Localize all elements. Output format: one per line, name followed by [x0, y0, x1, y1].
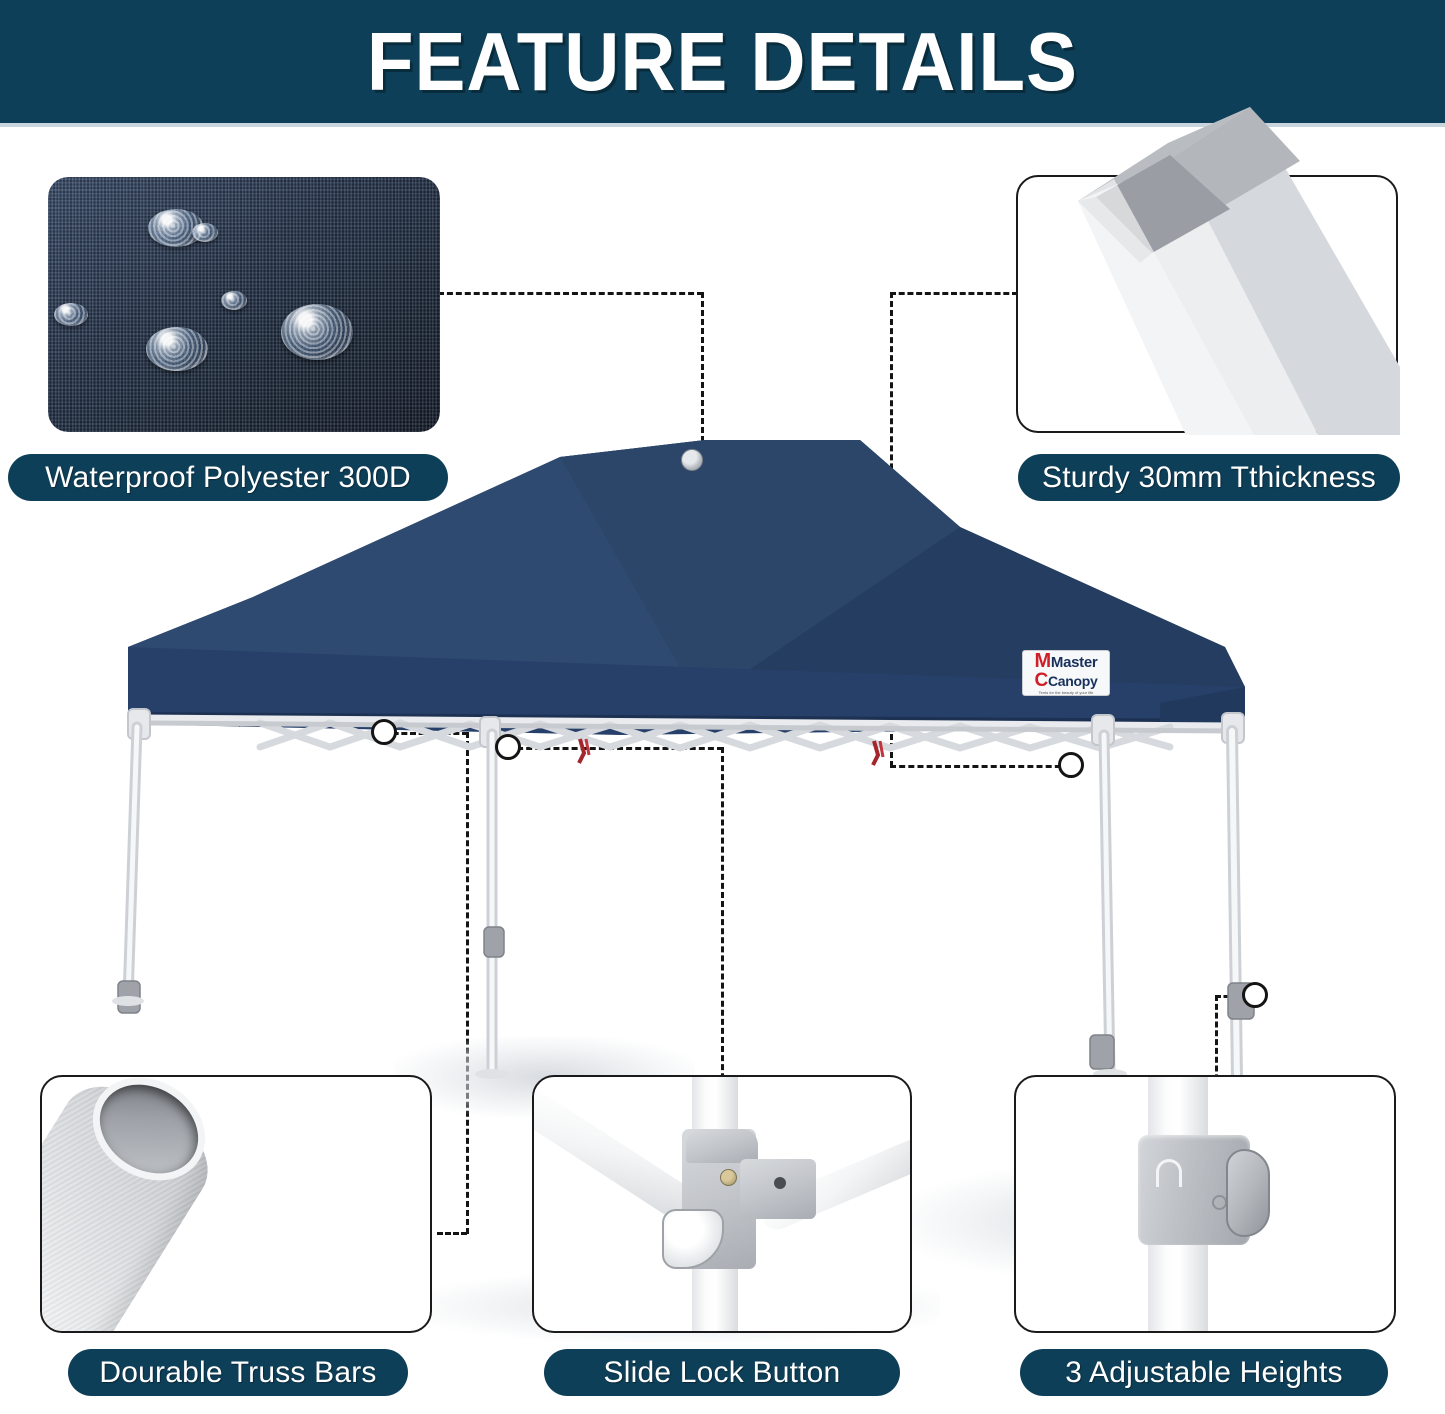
label-adjustable-heights-text: 3 Adjustable Heights [1065, 1356, 1343, 1390]
label-slide-lock: Slide Lock Button [544, 1349, 900, 1396]
brand-logo-tagline: Tents for the beauty of your life [1039, 691, 1094, 695]
height-adjuster-lever[interactable] [1226, 1149, 1270, 1237]
vent-grommet-icon [681, 449, 703, 471]
water-droplet [146, 327, 208, 371]
brand-logo-line-2: CCanopy [1035, 671, 1098, 691]
inset-adjustable-heights [1014, 1075, 1396, 1333]
inset-truss-bars [40, 1075, 432, 1333]
height-adjuster-arch-mark [1156, 1159, 1182, 1187]
inset-waterproof-fabric [48, 177, 440, 432]
slide-lock-screw [720, 1169, 737, 1186]
page-title: FEATURE DETAILS [367, 14, 1078, 110]
water-droplet [221, 291, 247, 310]
label-waterproof-fabric-text: Waterproof Polyester 300D [45, 461, 411, 495]
callout-anchor-truss-center [495, 734, 521, 760]
callout-anchor-leg-adjuster [1242, 982, 1268, 1008]
feature-diagram-stage: MMaster CCanopy Tents for the beauty of … [0, 127, 1445, 1414]
slide-lock-arm-socket [740, 1159, 816, 1219]
water-droplet [281, 304, 353, 360]
callout-anchor-frame-right [1058, 752, 1084, 778]
label-slide-lock-text: Slide Lock Button [604, 1356, 841, 1390]
brand-logo-patch: MMaster CCanopy Tents for the beauty of … [1022, 650, 1110, 696]
truss-lattice [140, 719, 1235, 748]
label-adjustable-heights: 3 Adjustable Heights [1020, 1349, 1388, 1396]
truss-arm-left [534, 1083, 702, 1226]
brand-logo-initial-c: C [1035, 670, 1048, 691]
inset-slide-lock [532, 1075, 912, 1333]
label-truss-bars-text: Dourable Truss Bars [99, 1356, 376, 1390]
brand-logo-line-1: MMaster [1035, 651, 1098, 671]
slide-lock-collar-top [686, 1129, 758, 1163]
inset-sturdy-tube [1016, 175, 1398, 433]
label-sturdy-tube-text: Sturdy 30mm Tthickness [1042, 461, 1376, 495]
slide-lock-pin-hole [774, 1177, 786, 1189]
brand-logo-initial-m: M [1035, 650, 1051, 672]
water-droplet [192, 223, 218, 242]
height-adjuster-pin-icon [1212, 1195, 1227, 1210]
label-truss-bars: Dourable Truss Bars [68, 1349, 408, 1396]
water-droplet [54, 303, 88, 326]
leg-adjuster-collars [118, 927, 1254, 1069]
label-sturdy-tube: Sturdy 30mm Tthickness [1018, 454, 1400, 501]
fabric-texture-photo [48, 177, 440, 432]
label-waterproof-fabric: Waterproof Polyester 300D [8, 454, 448, 501]
square-tube-drawing [1018, 105, 1400, 435]
callout-anchor-truss-left [371, 719, 397, 745]
